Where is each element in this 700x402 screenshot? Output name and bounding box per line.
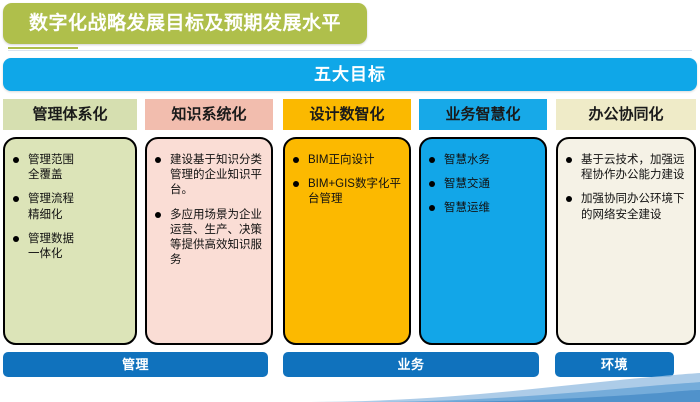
col-design-digital-bullet-list: BIM正向设计BIM+GIS数字化平台管理 — [291, 153, 401, 208]
list-item: BIM+GIS数字化平台管理 — [291, 177, 401, 207]
col-management-system-header: 管理体系化 — [3, 99, 137, 130]
banner-label: 五大目标 — [314, 66, 386, 83]
title-divider-rule — [8, 50, 692, 51]
list-item: 管理范围全覆盖 — [11, 153, 127, 183]
list-item: 智慧水务 — [427, 153, 537, 168]
col-office-collab-header: 办公协同化 — [556, 99, 696, 130]
col-knowledge-system-bullet-list: 建设基于知识分类管理的企业知识平台。多应用场景为企业运营、生产、决策等提供高效知… — [153, 153, 263, 268]
title-accent-rule — [8, 47, 78, 49]
list-item: 智慧运维 — [427, 201, 537, 216]
footer-management-label: 管理 — [122, 358, 149, 371]
list-item: BIM正向设计 — [291, 153, 401, 168]
list-item: 管理数据一体化 — [11, 232, 127, 262]
col-business-smart-header-label: 业务智慧化 — [445, 107, 520, 122]
col-knowledge-system-card: 建设基于知识分类管理的企业知识平台。多应用场景为企业运营、生产、决策等提供高效知… — [145, 137, 273, 345]
slide-canvas: 数字化战略发展目标及预期发展水平 五大目标 管理体系化管理范围全覆盖管理流程精细… — [0, 0, 700, 402]
col-office-collab-card: 基于云技术，加强远程协作办公能力建设加强协同办公环境下的网络安全建设 — [556, 137, 696, 345]
col-office-collab-header-label: 办公协同化 — [588, 107, 663, 122]
col-business-smart-bullet-list: 智慧水务智慧交通智慧运维 — [427, 153, 537, 217]
list-item: 基于云技术，加强远程协作办公能力建设 — [564, 153, 686, 183]
col-business-smart-header: 业务智慧化 — [419, 99, 547, 130]
list-item: 多应用场景为企业运营、生产、决策等提供高效知识服务 — [153, 208, 263, 269]
col-management-system-card: 管理范围全覆盖管理流程精细化管理数据一体化 — [3, 137, 137, 345]
list-item: 加强协同办公环境下的网络安全建设 — [564, 192, 686, 222]
slide-title-bar: 数字化战略发展目标及预期发展水平 — [3, 3, 367, 44]
col-design-digital: 设计数智化BIM正向设计BIM+GIS数字化平台管理 — [283, 99, 411, 130]
col-management-system: 管理体系化管理范围全覆盖管理流程精细化管理数据一体化 — [3, 99, 137, 130]
col-office-collab-bullet-list: 基于云技术，加强远程协作办公能力建设加强协同办公环境下的网络安全建设 — [564, 153, 686, 223]
col-office-collab: 办公协同化基于云技术，加强远程协作办公能力建设加强协同办公环境下的网络安全建设 — [556, 99, 696, 130]
col-management-system-bullet-list: 管理范围全覆盖管理流程精细化管理数据一体化 — [11, 153, 127, 262]
col-knowledge-system-header: 知识系统化 — [145, 99, 273, 130]
col-design-digital-header-label: 设计数智化 — [309, 107, 384, 122]
footer-environment-label: 环境 — [601, 358, 628, 371]
page-title: 数字化战略发展目标及预期发展水平 — [29, 14, 341, 33]
list-item: 管理流程精细化 — [11, 192, 127, 222]
footer-business-label: 业务 — [397, 358, 424, 371]
decorative-wave — [0, 372, 700, 402]
col-design-digital-card: BIM正向设计BIM+GIS数字化平台管理 — [283, 137, 411, 345]
col-knowledge-system: 知识系统化建设基于知识分类管理的企业知识平台。多应用场景为企业运营、生产、决策等… — [145, 99, 273, 130]
list-item: 建设基于知识分类管理的企业知识平台。 — [153, 153, 263, 199]
col-business-smart: 业务智慧化智慧水务智慧交通智慧运维 — [419, 99, 547, 130]
five-goals-banner: 五大目标 — [3, 58, 697, 91]
col-business-smart-card: 智慧水务智慧交通智慧运维 — [419, 137, 547, 345]
col-management-system-header-label: 管理体系化 — [32, 107, 107, 122]
list-item: 智慧交通 — [427, 177, 537, 192]
col-design-digital-header: 设计数智化 — [283, 99, 411, 130]
col-knowledge-system-header-label: 知识系统化 — [171, 107, 246, 122]
